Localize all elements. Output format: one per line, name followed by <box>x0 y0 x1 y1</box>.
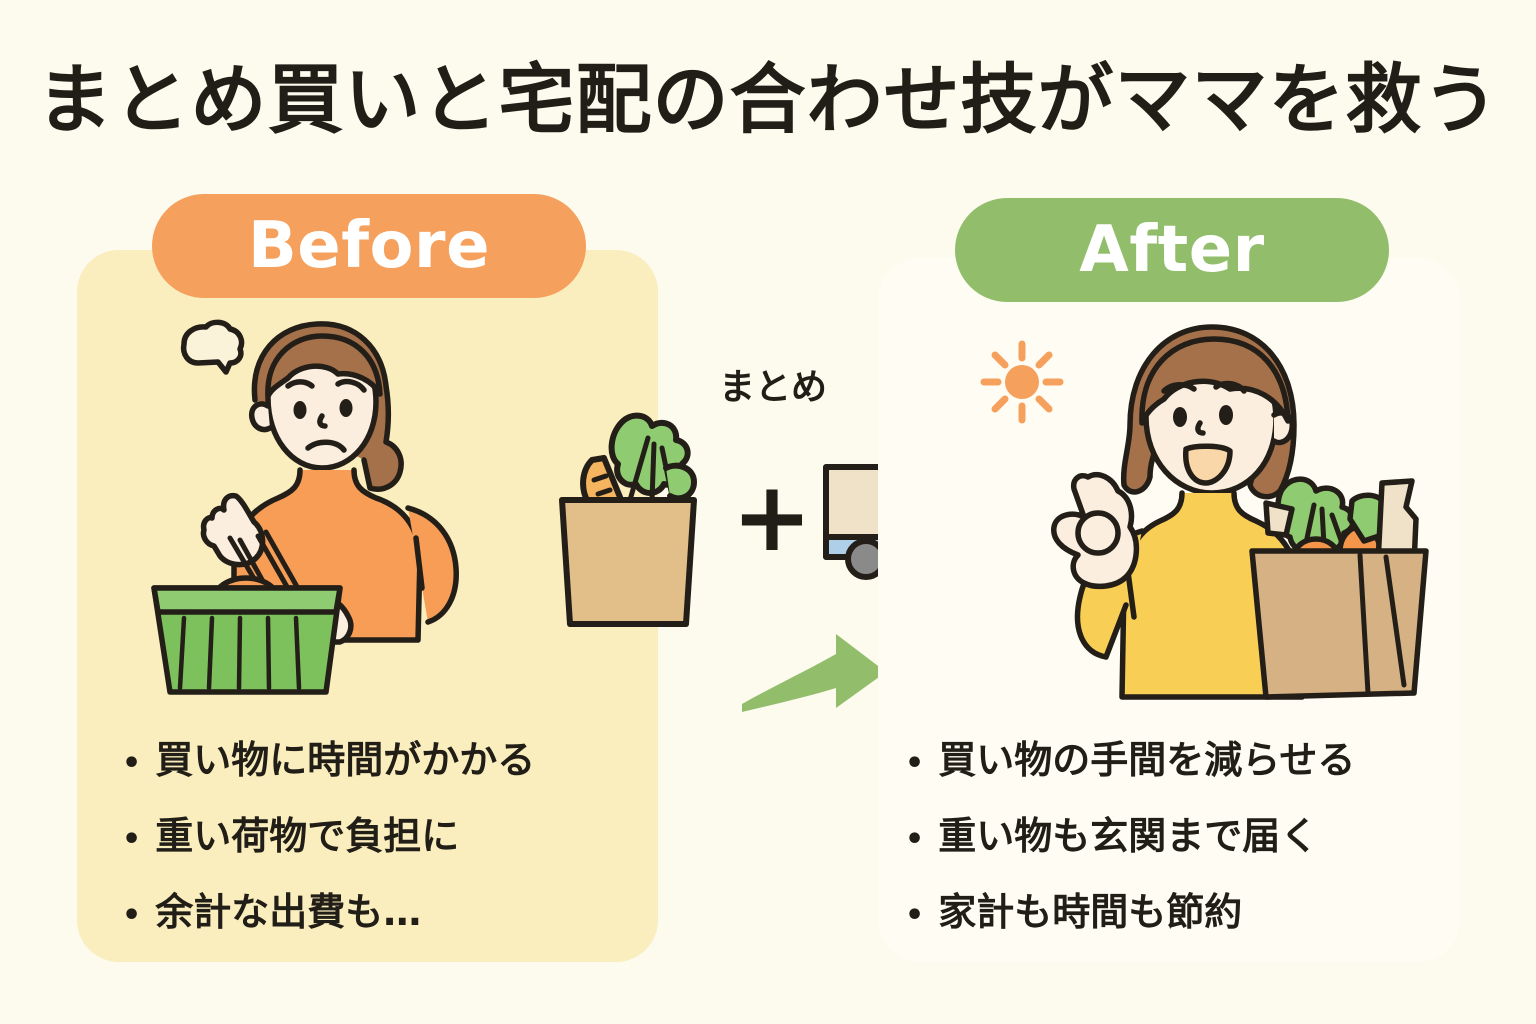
bullet-label: 買い物の手間を減らせる <box>938 724 1355 796</box>
after-illustration <box>1030 305 1450 710</box>
before-illustration <box>150 300 510 700</box>
infographic-canvas: まとめ買いと宅配の合わせ技がママを救う <box>0 0 1536 1024</box>
page-title: まとめ買いと宅配の合わせ技がママを救う <box>0 52 1536 148</box>
bullet-label: 家計も時間も節約 <box>938 876 1242 948</box>
after-bullet-list: • 買い物の手間を減らせる • 重い物も玄関まで届く • 家計も時間も節約 <box>905 724 1450 952</box>
list-item: • 重い物も玄関まで届く <box>905 800 1450 876</box>
before-badge: Before <box>152 194 586 298</box>
list-item: • 余計な出費も… <box>122 876 642 952</box>
combine-label: まとめ <box>719 358 827 410</box>
after-badge: After <box>955 198 1389 302</box>
list-item: • 買い物の手間を減らせる <box>905 724 1450 800</box>
bullet-marker: • <box>905 880 924 952</box>
list-item: • 家計も時間も節約 <box>905 876 1450 952</box>
before-bullet-list: • 買い物に時間がかかる • 重い荷物で負担に • 余計な出費も… <box>122 724 642 952</box>
bullet-marker: • <box>122 880 141 952</box>
arrow-right-icon <box>740 628 890 718</box>
bullet-marker: • <box>122 804 141 876</box>
bullet-marker: • <box>122 728 141 800</box>
list-item: • 買い物に時間がかかる <box>122 724 642 800</box>
bullet-label: 重い物も玄関まで届く <box>938 800 1318 872</box>
after-badge-label: After <box>1079 213 1264 287</box>
grocery-bag-icon <box>548 404 708 634</box>
plus-symbol: + <box>731 476 813 558</box>
bullet-marker: • <box>905 804 924 876</box>
list-item: • 重い荷物で負担に <box>122 800 642 876</box>
bullet-label: 重い荷物で負担に <box>155 800 459 872</box>
bullet-label: 買い物に時間がかかる <box>155 724 535 796</box>
bullet-marker: • <box>905 728 924 800</box>
before-badge-label: Before <box>248 209 490 283</box>
bullet-label: 余計な出費も… <box>155 876 421 948</box>
